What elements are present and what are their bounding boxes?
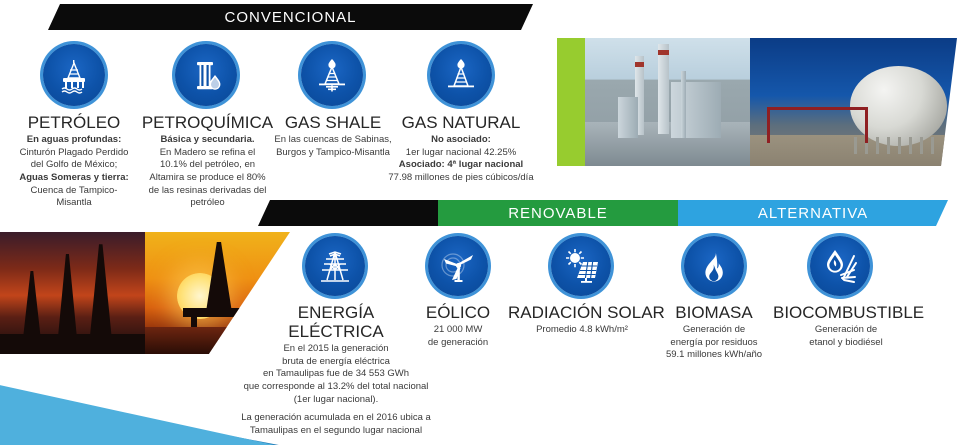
gas-derrick-flame-icon [430,44,492,106]
droplet-plant-icon [810,236,870,296]
transmission-tower-icon [305,236,365,296]
item-eolico: EÓLICO 21 000 MW de generación [398,303,518,349]
item-eolico-title: EÓLICO [398,303,518,322]
gas-sphere-image [750,38,957,166]
item-gas-natural: GAS NATURAL No asociado: 1er lugar nacio… [385,113,537,185]
banner-segment-renewable: RENOVABLE [438,200,678,226]
flame-icon [684,236,744,296]
item-gas-shale-title: GAS SHALE [267,113,399,132]
item-radiacion-solar: RADIACIÓN SOLAR Promedio 4.8 kWh/m² [508,303,656,337]
oil-platform-icon [43,44,105,106]
item-biomasa-title: BIOMASA [652,303,776,322]
item-energia-electrica: ENERGÍA ELÉCTRICA En el 2015 la generaci… [250,303,422,437]
infographic-canvas: CONVENCIONAL [0,0,960,445]
item-energia-electrica-title-line1: ENERGÍA [250,303,422,322]
red-pipe-frame [767,107,868,143]
power-plant-image [585,38,750,166]
rig-leg [238,317,244,337]
plant-structure [681,71,686,138]
item-biocombustible: BIOCOMBUSTIBLE Generación de etanol y bi… [773,303,919,349]
banner-alternative-label: ALTERNATIVA [678,200,948,226]
item-radiacion-solar-title: RADIACIÓN SOLAR [508,303,656,322]
power-plant-and-gas-sphere-photo [557,38,957,166]
banner-conventional: CONVENCIONAL [48,4,533,30]
item-petroquimica-title: PETROQUÍMICA [135,113,280,132]
banner-segment-black-label [258,200,438,226]
banner-segment-black [258,200,438,226]
plant-structure [618,97,638,138]
banner-segment-alternative: ALTERNATIVA [678,200,948,226]
banner-conventional-label: CONVENCIONAL [48,4,533,30]
item-radiacion-solar-desc: Promedio 4.8 kWh/m² [508,324,656,337]
plant-structure [671,82,721,138]
item-energia-electrica-desc: En el 2015 la generación bruta de energí… [206,343,466,437]
beaker-droplet-icon [175,44,237,106]
item-petroquimica: PETROQUÍMICA Básica y secundaria. En Mad… [135,113,280,210]
gas-derrick-flame-icon [301,44,363,106]
item-petroleo: PETRÓLEO En aguas profundas: Cinturón Pl… [0,113,148,210]
item-biocombustible-title: BIOCOMBUSTIBLE [773,303,919,322]
item-energia-electrica-title-line2: ELÉCTRICA [250,322,422,341]
rig-deck [183,308,258,318]
rig-base [0,334,145,354]
item-biocombustible-desc: Generación de etanol y biodiésel [773,324,919,349]
item-gas-natural-desc: No asociado: 1er lugar nacional 42.25% A… [385,134,537,185]
night-rigs-image [0,232,145,354]
item-petroquimica-desc: Básica y secundaria. En Madero se refina… [135,134,280,210]
item-gas-shale: GAS SHALE En las cuencas de Sabinas, Bur… [267,113,399,159]
green-accent-bar [557,38,585,166]
item-biomasa-desc: Generación de energía por residuos 59.1 … [652,324,776,362]
item-eolico-desc: 21 000 MW de generación [398,324,518,349]
plant-stack [658,44,669,134]
item-petroleo-desc: En aguas profundas: Cinturón Plagado Per… [0,134,148,210]
rig-silhouette [90,244,112,337]
item-petroleo-title: PETRÓLEO [0,113,148,132]
item-gas-shale-desc: En las cuencas de Sabinas, Burgos y Tamp… [267,134,399,159]
banner-renewable-label: RENOVABLE [438,200,678,226]
oil-rigs-sunset-photo [0,232,290,354]
rig-silhouette [58,254,77,337]
banner-renewable-alternative: RENOVABLE ALTERNATIVA [258,200,948,226]
rig-silhouette [23,271,40,337]
solar-panel-sun-icon [551,236,611,296]
wind-turbine-icon [428,236,488,296]
item-gas-natural-title: GAS NATURAL [385,113,537,132]
item-biomasa: BIOMASA Generación de energía por residu… [652,303,776,362]
